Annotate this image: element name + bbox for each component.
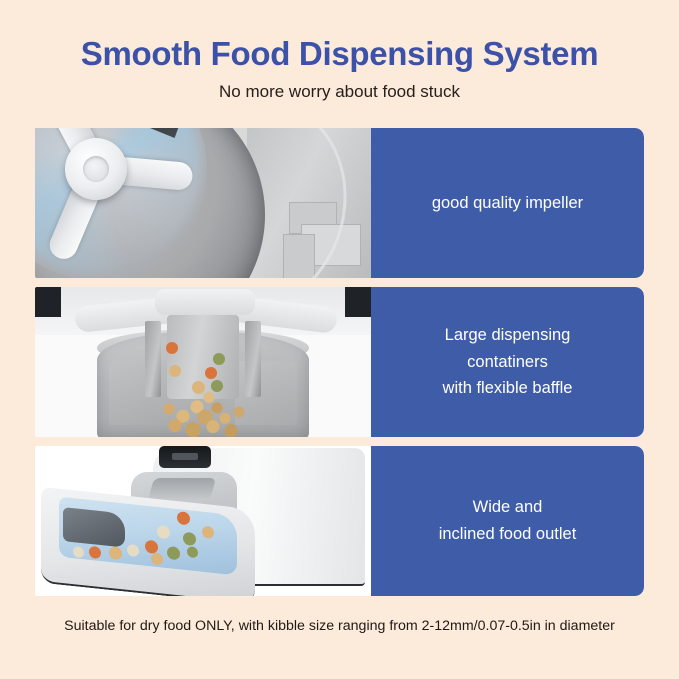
kibble-9 (89, 546, 101, 559)
hopper-bowl (35, 128, 265, 278)
tray-shadow (63, 507, 125, 548)
dispensing-container-photo (35, 287, 371, 437)
caption-text-impeller: good quality impeller (420, 190, 595, 217)
kibble-1 (177, 511, 190, 525)
footer-note: Suitable for dry food ONLY, with kibble … (0, 618, 679, 634)
kibble-11 (151, 552, 163, 565)
page-subtitle: No more worry about food stuck (0, 82, 679, 102)
caption-panel-container: Large dispensing contatiners with flexib… (371, 287, 644, 437)
kibble-12 (73, 546, 84, 558)
impeller-hub (65, 138, 127, 200)
caption-panel-outlet: Wide and inclined food outlet (371, 446, 644, 596)
kibble-2 (157, 525, 170, 539)
infographic-page: Smooth Food Dispensing System No more wo… (0, 0, 679, 679)
hopper-bowl-inner (35, 128, 207, 278)
page-title: Smooth Food Dispensing System (0, 36, 679, 72)
kibble-falling-3 (213, 353, 225, 365)
kibble-falling-1 (166, 342, 178, 354)
caption-text-outlet: Wide and inclined food outlet (427, 494, 589, 547)
kibble-10 (187, 546, 198, 558)
header: Smooth Food Dispensing System No more wo… (0, 0, 679, 102)
kibble-6 (167, 546, 180, 560)
kibble-falling-4 (205, 367, 217, 379)
caption-text-container: Large dispensing contatiners with flexib… (431, 322, 585, 402)
shell-corner-right (345, 287, 371, 317)
kibble-pile (153, 385, 253, 437)
feature-rows: good quality impeller (35, 128, 644, 605)
tray-inner-surface (59, 497, 237, 576)
kibble-7 (127, 544, 139, 557)
feature-row-impeller: good quality impeller (35, 128, 644, 278)
caption-panel-impeller: good quality impeller (371, 128, 644, 278)
kibble-4 (202, 526, 214, 539)
kibble-8 (109, 546, 122, 560)
food-outlet-photo (35, 446, 371, 596)
feature-row-container: Large dispensing contatiners with flexib… (35, 287, 644, 437)
kibble-falling-2 (169, 365, 181, 377)
shell-corner-left (35, 287, 61, 317)
kibble-3 (183, 532, 196, 546)
feeder-display-screen (159, 446, 211, 468)
outlet-mouth (148, 478, 216, 500)
impeller-photo (35, 128, 371, 278)
footer: Suitable for dry food ONLY, with kibble … (0, 618, 679, 634)
feature-row-outlet: Wide and inclined food outlet (35, 446, 644, 596)
impeller-blade-center (155, 289, 255, 315)
